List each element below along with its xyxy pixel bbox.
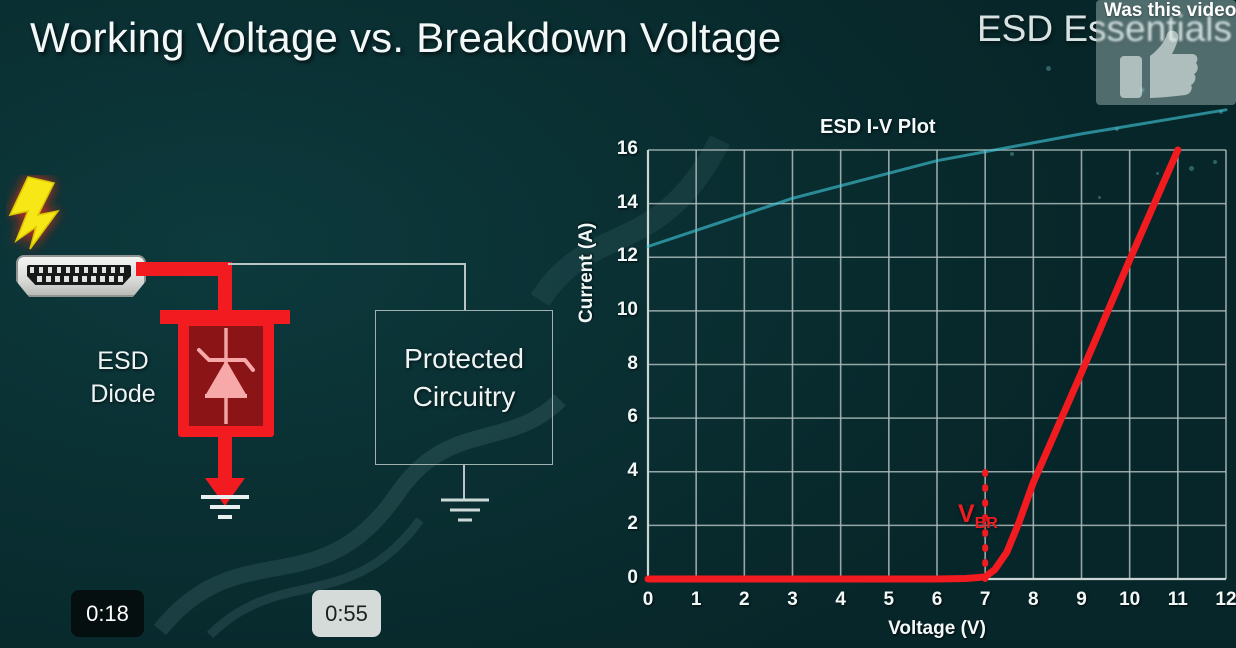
chart-y-tick: 0 xyxy=(598,567,638,589)
chart-plot-area xyxy=(648,150,1226,579)
protected-circuitry-label-line2: Circuitry xyxy=(375,378,553,416)
thumbs-up-icon[interactable] xyxy=(1120,30,1198,100)
ground-symbol-icon xyxy=(197,493,253,523)
chart-x-tick: 7 xyxy=(965,589,1005,611)
chart-y-tick: 14 xyxy=(598,192,638,214)
chart-x-tick: 11 xyxy=(1158,589,1198,611)
chart-x-tick: 8 xyxy=(1013,589,1053,611)
chart-x-tick: 12 xyxy=(1206,589,1236,611)
chart-x-tick: 1 xyxy=(676,589,716,611)
esd-diode-label-line1: ESD xyxy=(75,345,171,378)
chart-y-tick: 12 xyxy=(598,245,638,267)
chart-y-tick: 10 xyxy=(598,299,638,321)
breakdown-voltage-annotation-label: VBR xyxy=(958,500,998,533)
esd-diode-label-line2: Diode xyxy=(75,378,171,411)
lightning-bolt-icon xyxy=(6,175,78,275)
current-time-badge[interactable]: 0:18 xyxy=(71,590,144,637)
esd-diode-component xyxy=(178,315,274,437)
chart-gridlines xyxy=(648,150,1226,579)
chart-x-tick: 3 xyxy=(773,589,813,611)
protected-circuitry-label: Protected Circuitry xyxy=(375,340,553,416)
page-title: Working Voltage vs. Breakdown Voltage xyxy=(30,14,781,62)
tvs-zener-diode-icon xyxy=(189,326,263,426)
protected-ground-wire xyxy=(463,465,465,500)
esd-iv-chart: ESD I-V Plot Current (A) Voltage (V) 024… xyxy=(580,108,1236,648)
chart-y-tick: 8 xyxy=(598,353,638,375)
chart-x-tick: 2 xyxy=(724,589,764,611)
chart-y-tick: 4 xyxy=(598,460,638,482)
feedback-overlay-card[interactable]: Was this video xyxy=(1096,0,1236,105)
chart-y-tick: 2 xyxy=(598,513,638,535)
video-frame: Working Voltage vs. Breakdown Voltage ES… xyxy=(0,0,1236,648)
chart-svg xyxy=(648,150,1226,579)
chart-x-tick: 6 xyxy=(917,589,957,611)
chart-y-axis-label: Current (A) xyxy=(576,223,598,323)
total-time-badge[interactable]: 0:55 xyxy=(312,590,381,637)
esd-diode-label: ESD Diode xyxy=(75,345,171,411)
vbr-subscript: BR xyxy=(975,515,998,532)
protected-circuitry-label-line1: Protected xyxy=(375,340,553,378)
chart-y-tick: 6 xyxy=(598,406,638,428)
signal-wire-vertical xyxy=(464,263,466,311)
chart-x-tick: 0 xyxy=(628,589,668,611)
chart-x-tick: 10 xyxy=(1110,589,1150,611)
signal-wire-horizontal xyxy=(228,263,466,265)
chart-x-axis-label: Voltage (V) xyxy=(648,618,1226,640)
chart-title: ESD I-V Plot xyxy=(820,116,936,139)
chart-x-tick: 5 xyxy=(869,589,909,611)
esd-protection-circuit-diagram: ESD Diode Protected Circuitry xyxy=(0,150,600,570)
chart-x-tick: 9 xyxy=(1062,589,1102,611)
feedback-prompt-text: Was this video xyxy=(1104,0,1236,22)
bokeh-sparkle xyxy=(1046,66,1051,71)
vbr-symbol: V xyxy=(958,500,975,528)
ground-symbol-icon xyxy=(437,496,493,526)
chart-y-tick: 16 xyxy=(598,138,638,160)
chart-x-tick: 4 xyxy=(821,589,861,611)
